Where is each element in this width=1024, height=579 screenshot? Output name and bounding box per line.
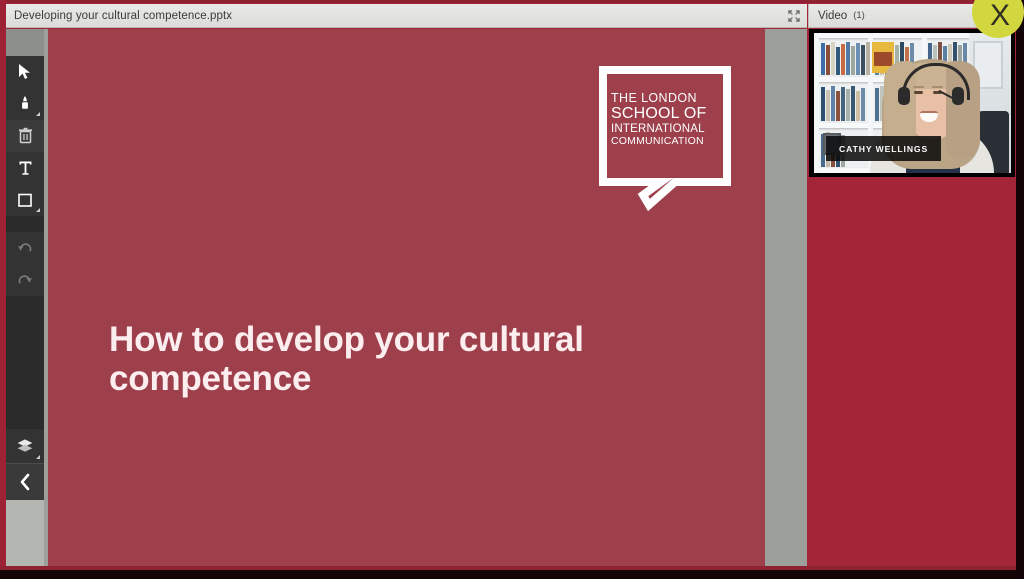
chevron-down-icon bbox=[36, 455, 40, 459]
toolbar-divider bbox=[6, 216, 44, 232]
pen-tool[interactable] bbox=[6, 88, 44, 120]
presentation-viewer-window: Developing your cultural competence.pptx… bbox=[0, 0, 1024, 579]
toolbar-top-spacer bbox=[6, 29, 44, 56]
trash-icon bbox=[18, 127, 33, 145]
document-titlebar: Developing your cultural competence.pptx bbox=[6, 4, 807, 28]
shape-tool[interactable] bbox=[6, 184, 44, 216]
redo-button[interactable] bbox=[6, 264, 44, 296]
text-tool[interactable] bbox=[6, 152, 44, 184]
chevron-down-icon bbox=[36, 112, 40, 116]
slide-title-line-1: How to develop your cultural bbox=[109, 320, 649, 359]
close-icon: X bbox=[990, 1, 1010, 31]
logo-text-block: THE LONDON SCHOOL OF INTERNATIONAL COMMU… bbox=[611, 91, 721, 148]
london-school-logo: THE LONDON SCHOOL OF INTERNATIONAL COMMU… bbox=[599, 66, 731, 211]
text-t-icon bbox=[18, 159, 33, 177]
collapse-panel-button[interactable] bbox=[6, 463, 44, 500]
slide-content[interactable]: THE LONDON SCHOOL OF INTERNATIONAL COMMU… bbox=[48, 29, 765, 566]
slide-canvas-area[interactable]: THE LONDON SCHOOL OF INTERNATIONAL COMMU… bbox=[44, 29, 807, 566]
eraser-tool[interactable] bbox=[6, 120, 44, 152]
undo-button[interactable] bbox=[6, 232, 44, 264]
window-edge-bottom bbox=[0, 570, 1024, 579]
redo-arrow-icon bbox=[16, 272, 34, 288]
pen-icon bbox=[18, 95, 32, 113]
document-fullscreen-button[interactable] bbox=[781, 4, 807, 28]
toolbar-bottom-group bbox=[6, 429, 44, 566]
participant-name-text: CATHY WELLINGS bbox=[839, 144, 928, 154]
logo-line-2: SCHOOL OF bbox=[611, 105, 721, 123]
window-edge-right bbox=[1016, 0, 1024, 579]
window-edge-top bbox=[0, 0, 1024, 3]
undo-arrow-icon bbox=[16, 240, 34, 256]
document-title: Developing your cultural competence.pptx bbox=[6, 10, 232, 22]
chevron-down-icon bbox=[36, 208, 40, 212]
video-panel-empty-area bbox=[808, 177, 1016, 566]
logo-line-1: THE LONDON bbox=[611, 91, 721, 105]
video-panel: CATHY WELLINGS bbox=[808, 29, 1016, 566]
slide-title-line-2: competence bbox=[109, 359, 649, 398]
annotation-toolbar bbox=[6, 29, 44, 566]
square-icon bbox=[17, 192, 33, 208]
layers-tool[interactable] bbox=[6, 429, 44, 463]
video-stream: CATHY WELLINGS bbox=[814, 33, 1011, 173]
video-panel-title: Video bbox=[809, 10, 847, 22]
layers-stack-icon bbox=[16, 438, 34, 454]
video-participant-count: (1) bbox=[847, 10, 865, 21]
chevron-left-icon bbox=[18, 473, 32, 491]
video-tile[interactable]: CATHY WELLINGS bbox=[809, 29, 1015, 177]
slide-title: How to develop your cultural competence bbox=[109, 320, 649, 398]
participant-name-label: CATHY WELLINGS bbox=[826, 136, 941, 161]
cursor-arrow-icon bbox=[18, 63, 32, 81]
fullscreen-icon bbox=[788, 10, 800, 22]
select-tool[interactable] bbox=[6, 56, 44, 88]
logo-line-4: COMMUNICATION bbox=[611, 136, 721, 148]
toolbar-bottom-filler bbox=[6, 500, 44, 566]
